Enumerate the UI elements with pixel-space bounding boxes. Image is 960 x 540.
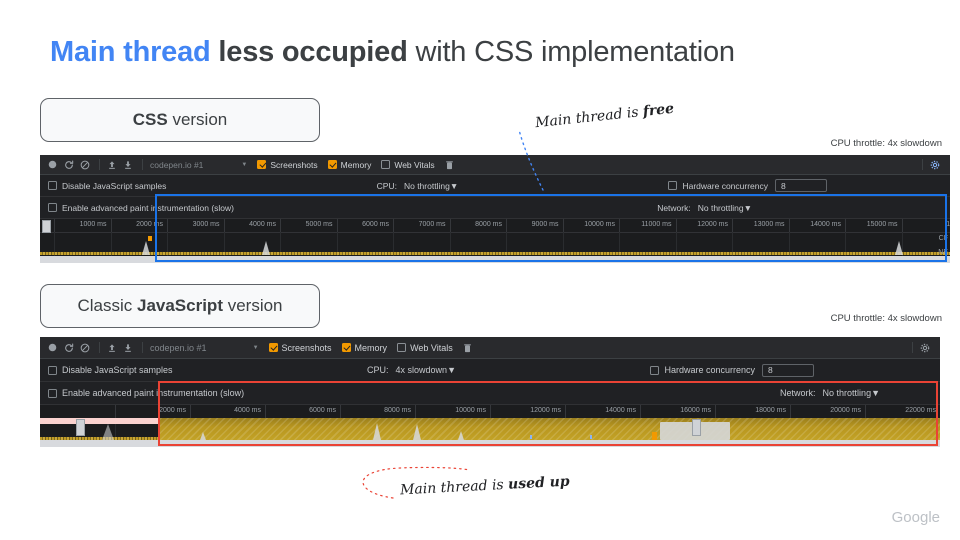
cpu-peak bbox=[458, 431, 464, 440]
label-js-version-bold: JavaScript bbox=[137, 296, 223, 315]
cpu-label-js: CPU: bbox=[367, 365, 389, 375]
devtools-row-js-samples-css: Disable JavaScript samples CPU: No throt… bbox=[40, 175, 950, 197]
toolbar-divider-2 bbox=[142, 159, 143, 170]
cpu-peak bbox=[142, 241, 150, 255]
timeline-ruler-css: 1000 ms2000 ms3000 ms4000 ms5000 ms6000 … bbox=[40, 219, 950, 233]
timeline-tick: 3000 ms bbox=[167, 219, 224, 232]
disable-js-samples-label-js: Disable JavaScript samples bbox=[62, 365, 173, 375]
checkbox-memory-icon[interactable] bbox=[328, 160, 337, 169]
network-throttle-control-js[interactable]: Network: No throttling ▼ bbox=[780, 388, 880, 398]
timeline-tick-label: 16 bbox=[946, 221, 950, 228]
upload-icon[interactable] bbox=[105, 158, 118, 171]
devtools-panel-css: codepen.io #1 ▼ Screenshots Memory Web V… bbox=[40, 155, 950, 263]
annotation-main-thread-used-up: Main thread is used up bbox=[400, 474, 570, 499]
network-value-css: No throttling bbox=[698, 203, 744, 213]
reload-icon[interactable] bbox=[62, 158, 75, 171]
toggle-webvitals-label-css: Web Vitals bbox=[394, 160, 434, 170]
timeline-tick-label: 9000 ms bbox=[532, 221, 559, 228]
disable-js-samples-label-css: Disable JavaScript samples bbox=[62, 181, 166, 191]
timeline-tick: 16000 ms bbox=[640, 405, 715, 418]
checkbox-webvitals-icon[interactable] bbox=[397, 343, 406, 352]
annotation-top-bold: free bbox=[642, 101, 675, 120]
playhead-handle[interactable] bbox=[692, 419, 701, 436]
trash-icon[interactable] bbox=[443, 158, 456, 171]
timeline-tick: 18000 ms bbox=[715, 405, 790, 418]
reload-icon[interactable] bbox=[62, 341, 75, 354]
devtools-row-js-samples-js: Disable JavaScript samples CPU: 4x slowd… bbox=[40, 359, 940, 382]
checkbox-enable-paint[interactable] bbox=[48, 203, 57, 212]
record-icon[interactable] bbox=[46, 341, 59, 354]
warning-marker bbox=[652, 432, 657, 440]
cpu-activity-strip-css bbox=[40, 235, 950, 255]
toggle-screenshots-js[interactable]: Screenshots bbox=[269, 343, 332, 353]
devtools-row-paint-css: Enable advanced paint instrumentation (s… bbox=[40, 197, 950, 219]
cpu-peak bbox=[895, 241, 903, 255]
timeline-tick: 6000 ms bbox=[265, 405, 340, 418]
timeline-tick: 10000 ms bbox=[415, 405, 490, 418]
page-title: Main thread less occupied with CSS imple… bbox=[50, 36, 735, 69]
blue-event-marker bbox=[590, 435, 592, 439]
toolbar-divider bbox=[99, 159, 100, 170]
timeline-tick: 2000 ms bbox=[111, 219, 168, 232]
checkbox-webvitals-icon[interactable] bbox=[381, 160, 390, 169]
devtools-toolbar-css: codepen.io #1 ▼ Screenshots Memory Web V… bbox=[40, 155, 950, 175]
toolbar-divider bbox=[99, 342, 100, 353]
timeline-tick: 20000 ms bbox=[790, 405, 865, 418]
toggle-screenshots-label-js: Screenshots bbox=[282, 343, 332, 353]
toolbar-divider-2 bbox=[142, 342, 143, 353]
timeline-tick: 4000 ms bbox=[190, 405, 265, 418]
timeline-overview-css[interactable]: 1000 ms2000 ms3000 ms4000 ms5000 ms6000 … bbox=[40, 219, 950, 263]
timeline-scrollbar-js[interactable] bbox=[40, 440, 940, 447]
timeline-tick-label: 11000 ms bbox=[641, 221, 671, 228]
timeline-tick-label: 12000 ms bbox=[530, 407, 561, 414]
timeline-tick: 16 bbox=[902, 219, 951, 232]
timeline-tick-label: 2000 ms bbox=[136, 221, 163, 228]
label-css-version-bold: CSS bbox=[133, 110, 168, 129]
toggle-webvitals-css[interactable]: Web Vitals bbox=[381, 160, 434, 170]
toolbar-divider-3 bbox=[922, 159, 923, 170]
annotation-top-pre: Main thread is bbox=[535, 104, 644, 131]
cpu-value-js: 4x slowdown bbox=[396, 365, 448, 375]
gear-icon[interactable] bbox=[928, 158, 941, 171]
annotation-bottom-pre: Main thread is bbox=[400, 477, 509, 499]
cpu-activity-strip-js-left bbox=[40, 420, 158, 440]
timeline-tick: 10000 ms bbox=[563, 219, 620, 232]
cpu-peak bbox=[373, 423, 381, 440]
cpu-peak bbox=[102, 424, 114, 440]
timeline-tick-label: 13000 ms bbox=[754, 221, 785, 228]
record-icon[interactable] bbox=[46, 158, 59, 171]
warning-marker bbox=[148, 236, 152, 241]
filmstrip-thumbnail[interactable] bbox=[42, 220, 51, 233]
title-bold: less occupied bbox=[211, 36, 408, 68]
network-chevron-down-icon: ▼ bbox=[744, 203, 752, 213]
cpu-peak bbox=[262, 241, 270, 255]
timeline-tick: 4000 ms bbox=[224, 219, 281, 232]
network-throttle-control-css[interactable]: Network: No throttling ▼ bbox=[657, 203, 752, 213]
timeline-tick: 8000 ms bbox=[340, 405, 415, 418]
cpu-throttle-control-css[interactable]: CPU: No throttling ▼ bbox=[377, 181, 459, 191]
timeline-tick-label: 14000 ms bbox=[605, 407, 636, 414]
toggle-memory-label-css: Memory bbox=[341, 160, 372, 170]
timeline-tick-label: 6000 ms bbox=[362, 221, 389, 228]
timeline-scrollbar-css[interactable] bbox=[40, 256, 950, 263]
checkbox-hardware-concurrency[interactable] bbox=[650, 366, 659, 375]
cpu-peak bbox=[413, 424, 421, 440]
timeline-tick: 13000 ms bbox=[732, 219, 789, 232]
label-js-version: Classic JavaScript version bbox=[40, 284, 320, 328]
checkbox-screenshots-icon[interactable] bbox=[269, 343, 278, 352]
toggle-webvitals-js[interactable]: Web Vitals bbox=[397, 343, 453, 353]
toggle-screenshots-css[interactable]: Screenshots bbox=[257, 160, 317, 170]
label-css-version: CSS version bbox=[40, 98, 320, 142]
timeline-overview-js[interactable]: 2000 ms4000 ms6000 ms8000 ms10000 ms1200… bbox=[40, 405, 940, 447]
timeline-tick-label: 20000 ms bbox=[830, 407, 861, 414]
toggle-screenshots-label-css: Screenshots bbox=[270, 160, 317, 170]
timeline-tick-label: 14000 ms bbox=[810, 221, 841, 228]
target-url-select-css[interactable]: codepen.io #1 ▼ bbox=[150, 160, 247, 170]
timeline-tick: 1000 ms bbox=[54, 219, 111, 232]
toggle-memory-label-js: Memory bbox=[355, 343, 388, 353]
cpu-throttle-control-js[interactable]: CPU: 4x slowdown ▼ bbox=[367, 365, 456, 375]
timeline-tick-label: 18000 ms bbox=[755, 407, 786, 414]
blue-event-marker bbox=[530, 435, 532, 439]
timeline-tick-label: 7000 ms bbox=[419, 221, 446, 228]
hardware-concurrency-input-css[interactable]: 8 bbox=[775, 179, 827, 192]
clear-icon[interactable] bbox=[78, 341, 91, 354]
checkbox-hardware-concurrency[interactable] bbox=[668, 181, 677, 190]
timeline-tick: 8000 ms bbox=[450, 219, 507, 232]
label-js-version-rest: version bbox=[223, 296, 283, 315]
network-chevron-down-icon: ▼ bbox=[871, 388, 880, 398]
timeline-tick: 5000 ms bbox=[280, 219, 337, 232]
timeline-tick-label: 15000 ms bbox=[867, 221, 898, 228]
cpu-activity-fill-js bbox=[160, 418, 940, 440]
hardware-concurrency-control-js[interactable]: Hardware concurrency 8 bbox=[650, 364, 814, 377]
timeline-tick-label: 16000 ms bbox=[680, 407, 711, 414]
devtools-toolbar-js: codepen.io #1 ▼ Screenshots Memory Web V… bbox=[40, 337, 940, 359]
cpu-throttle-caption-js: CPU throttle: 4x slowdown bbox=[831, 313, 942, 324]
label-css-version-rest: version bbox=[168, 110, 228, 129]
hardware-concurrency-label-js: Hardware concurrency bbox=[664, 365, 755, 375]
hardware-concurrency-control-css[interactable]: Hardware concurrency 8 bbox=[668, 179, 827, 192]
timeline-tick-label: 22000 ms bbox=[905, 407, 936, 414]
cpu-peak bbox=[200, 432, 206, 440]
network-label-js: Network: bbox=[780, 388, 816, 398]
timeline-tick-label: 12000 ms bbox=[697, 221, 728, 228]
timeline-tick: 14000 ms bbox=[565, 405, 640, 418]
hardware-concurrency-label-css: Hardware concurrency bbox=[682, 181, 768, 191]
timeline-tick-label: 8000 ms bbox=[475, 221, 502, 228]
edge-label-net: NE bbox=[938, 249, 948, 256]
timeline-tick-label: 2000 ms bbox=[159, 407, 186, 414]
timeline-tick: 2000 ms bbox=[115, 405, 190, 418]
timeline-tick: 12000 ms bbox=[490, 405, 565, 418]
filmstrip-thumbnail[interactable] bbox=[76, 419, 85, 436]
annotation-leader-lines bbox=[0, 0, 960, 540]
timeline-ruler-js: 2000 ms4000 ms6000 ms8000 ms10000 ms1200… bbox=[40, 405, 940, 419]
timeline-tick-label: 10000 ms bbox=[455, 407, 486, 414]
chevron-down-icon: ▼ bbox=[253, 345, 259, 351]
cpu-chevron-down-icon: ▼ bbox=[450, 181, 458, 191]
edge-label-cpu: CF bbox=[939, 235, 948, 242]
checkbox-screenshots-icon[interactable] bbox=[257, 160, 266, 169]
timeline-tick-label: 8000 ms bbox=[384, 407, 411, 414]
timeline-tick: 15000 ms bbox=[845, 219, 902, 232]
label-js-version-pre: Classic bbox=[77, 296, 137, 315]
clear-icon[interactable] bbox=[78, 158, 91, 171]
upload-icon[interactable] bbox=[105, 341, 118, 354]
trash-icon[interactable] bbox=[461, 341, 474, 354]
title-regular: with CSS implementation bbox=[408, 36, 735, 68]
timeline-tick-label: 1000 ms bbox=[80, 221, 107, 228]
checkbox-memory-icon[interactable] bbox=[342, 343, 351, 352]
download-icon[interactable] bbox=[121, 158, 134, 171]
timeline-tick: 12000 ms bbox=[676, 219, 733, 232]
cpu-activity-line-css bbox=[40, 252, 950, 255]
timeline-tick: 22000 ms bbox=[865, 405, 940, 418]
toggle-memory-css[interactable]: Memory bbox=[328, 160, 372, 170]
timeline-tick-label: 5000 ms bbox=[306, 221, 333, 228]
hardware-concurrency-input-js[interactable]: 8 bbox=[762, 364, 814, 377]
timeline-tick-label: 4000 ms bbox=[234, 407, 261, 414]
checkbox-enable-paint[interactable] bbox=[48, 389, 57, 398]
timeline-tick: 7000 ms bbox=[393, 219, 450, 232]
network-value-js: No throttling bbox=[823, 388, 872, 398]
timeline-tick-label: 6000 ms bbox=[309, 407, 336, 414]
enable-paint-label-css: Enable advanced paint instrumentation (s… bbox=[62, 203, 234, 213]
timeline-tick: 14000 ms bbox=[789, 219, 846, 232]
timeline-tick-label: 10000 ms bbox=[584, 221, 615, 228]
checkbox-disable-js-samples[interactable] bbox=[48, 366, 57, 375]
cpu-chevron-down-icon: ▼ bbox=[447, 365, 456, 375]
target-url-label-css: codepen.io #1 bbox=[150, 160, 203, 170]
target-url-select-js[interactable]: codepen.io #1 ▼ bbox=[150, 343, 259, 353]
cpu-label-css: CPU: bbox=[377, 181, 397, 191]
annotation-bottom-bold: used up bbox=[508, 474, 570, 493]
cpu-activity-strip-js bbox=[160, 418, 940, 440]
target-url-label-js: codepen.io #1 bbox=[150, 343, 207, 353]
timeline-tick: 6000 ms bbox=[337, 219, 394, 232]
google-logo: Google bbox=[892, 509, 940, 526]
timeline-tick-label: 3000 ms bbox=[193, 221, 220, 228]
cpu-throttle-caption-css: CPU throttle: 4x slowdown bbox=[831, 138, 942, 149]
timeline-tick-label: 4000 ms bbox=[249, 221, 276, 228]
chevron-down-icon: ▼ bbox=[241, 162, 247, 168]
timeline-tick: 11000 ms bbox=[619, 219, 676, 232]
download-icon[interactable] bbox=[121, 341, 134, 354]
gear-icon[interactable] bbox=[918, 341, 931, 354]
checkbox-disable-js-samples[interactable] bbox=[48, 181, 57, 190]
title-accent: Main thread bbox=[50, 36, 211, 68]
toggle-memory-js[interactable]: Memory bbox=[342, 343, 388, 353]
toggle-webvitals-label-js: Web Vitals bbox=[410, 343, 453, 353]
annotation-main-thread-free: Main thread is free bbox=[535, 101, 675, 131]
enable-paint-label-js: Enable advanced paint instrumentation (s… bbox=[62, 388, 244, 398]
devtools-panel-js: codepen.io #1 ▼ Screenshots Memory Web V… bbox=[40, 337, 940, 447]
timeline-tick: 9000 ms bbox=[506, 219, 563, 232]
cpu-value-css: No throttling bbox=[404, 181, 450, 191]
network-label-css: Network: bbox=[657, 203, 691, 213]
devtools-row-paint-js: Enable advanced paint instrumentation (s… bbox=[40, 382, 940, 405]
toolbar-divider-3 bbox=[912, 342, 913, 353]
